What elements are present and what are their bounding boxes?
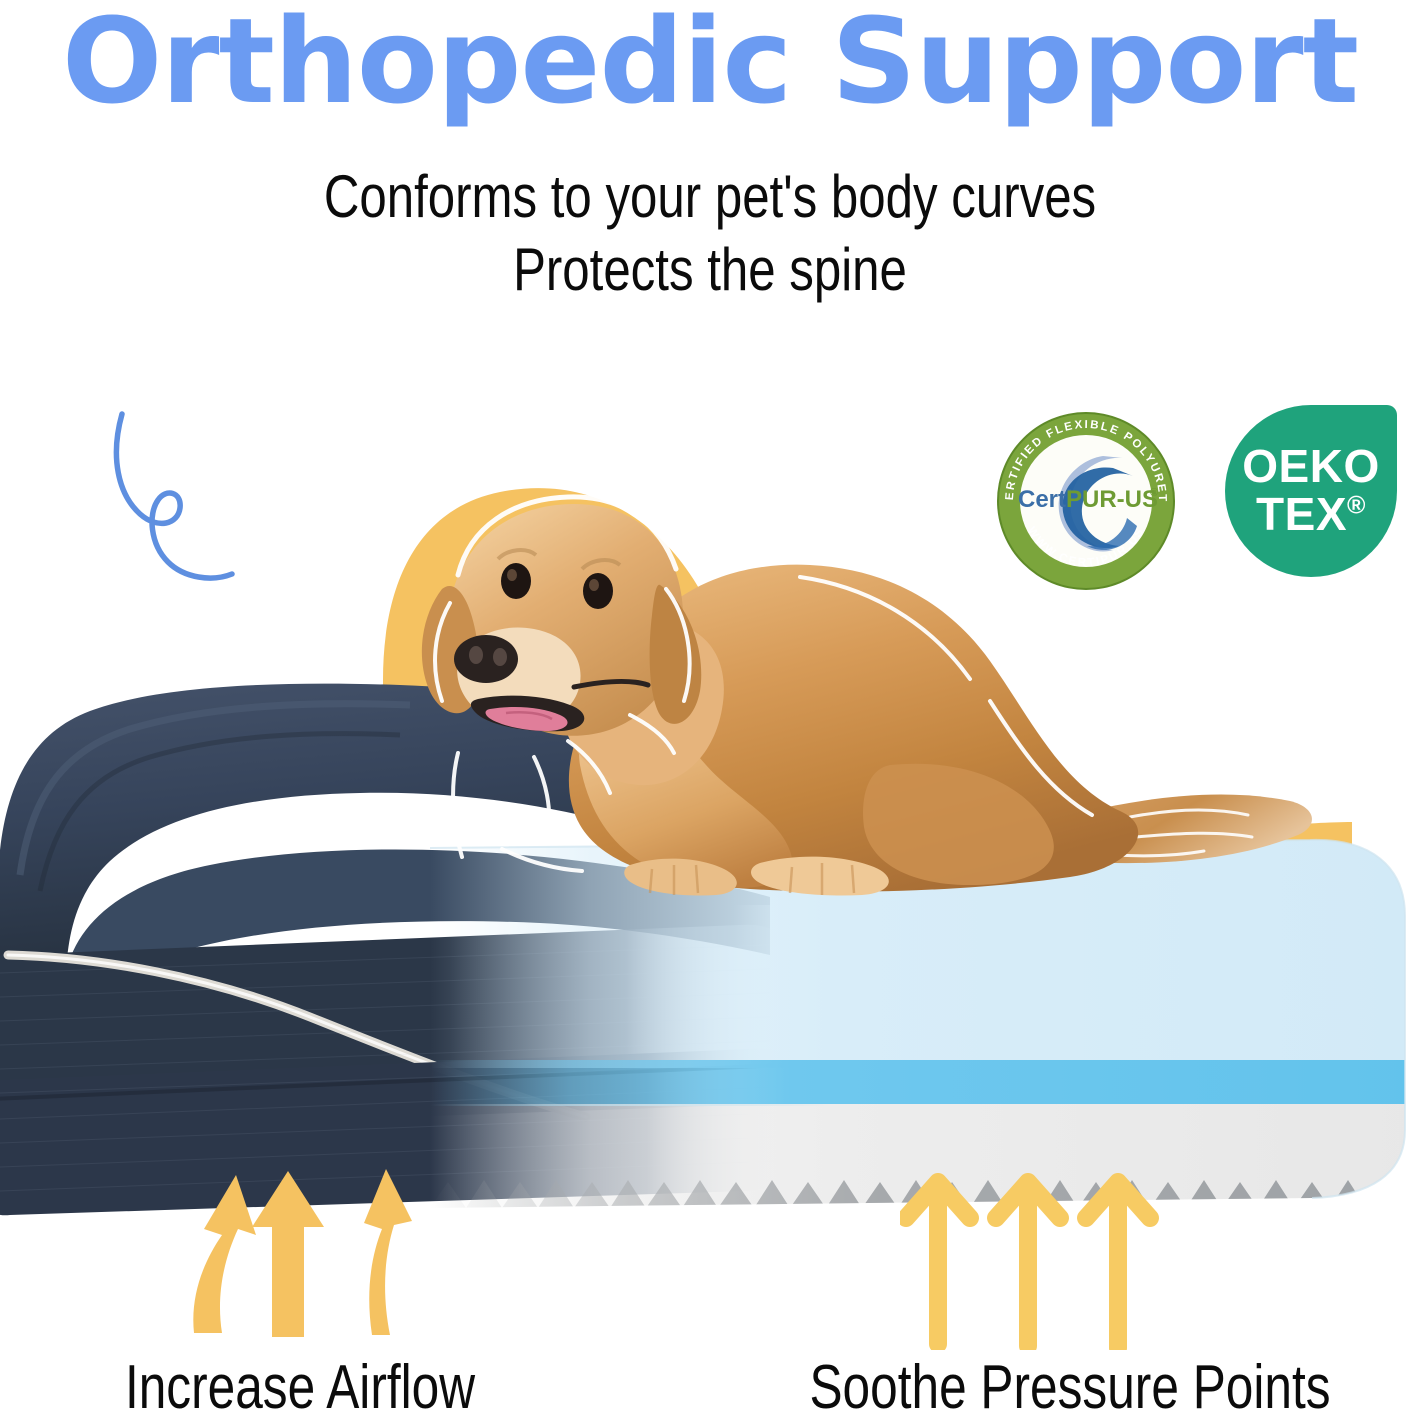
subtitle-line-1: Conforms to your pet's body curves [128, 160, 1292, 233]
pressure-arrow-3 [1086, 1182, 1150, 1348]
footer-labels: Increase Airflow Soothe Pressure Points [0, 1352, 1420, 1426]
golden-retriever-dog [330, 465, 1350, 1075]
page-title: Orthopedic Support [62, 0, 1358, 134]
airflow-arrow-3 [364, 1169, 412, 1335]
subtitle-container: Conforms to your pet's body curves Prote… [0, 160, 1420, 306]
pressure-arrow-2 [996, 1182, 1060, 1346]
headline-container: Orthopedic Support [0, 0, 1420, 150]
pressure-relief-arrows-group [900, 1160, 1160, 1350]
subtitle-line-2: Protects the spine [128, 233, 1292, 306]
pressure-arrow-1 [906, 1182, 970, 1344]
label-soothe-pressure-points: Soothe Pressure Points [766, 1352, 1374, 1423]
airflow-arrows-group [160, 1165, 420, 1345]
label-increase-airflow: Increase Airflow [44, 1352, 556, 1423]
airflow-arrow-1 [193, 1175, 256, 1333]
airflow-arrow-2 [252, 1171, 324, 1337]
infographic-page: Orthopedic Support Conforms to your pet'… [0, 0, 1420, 1426]
